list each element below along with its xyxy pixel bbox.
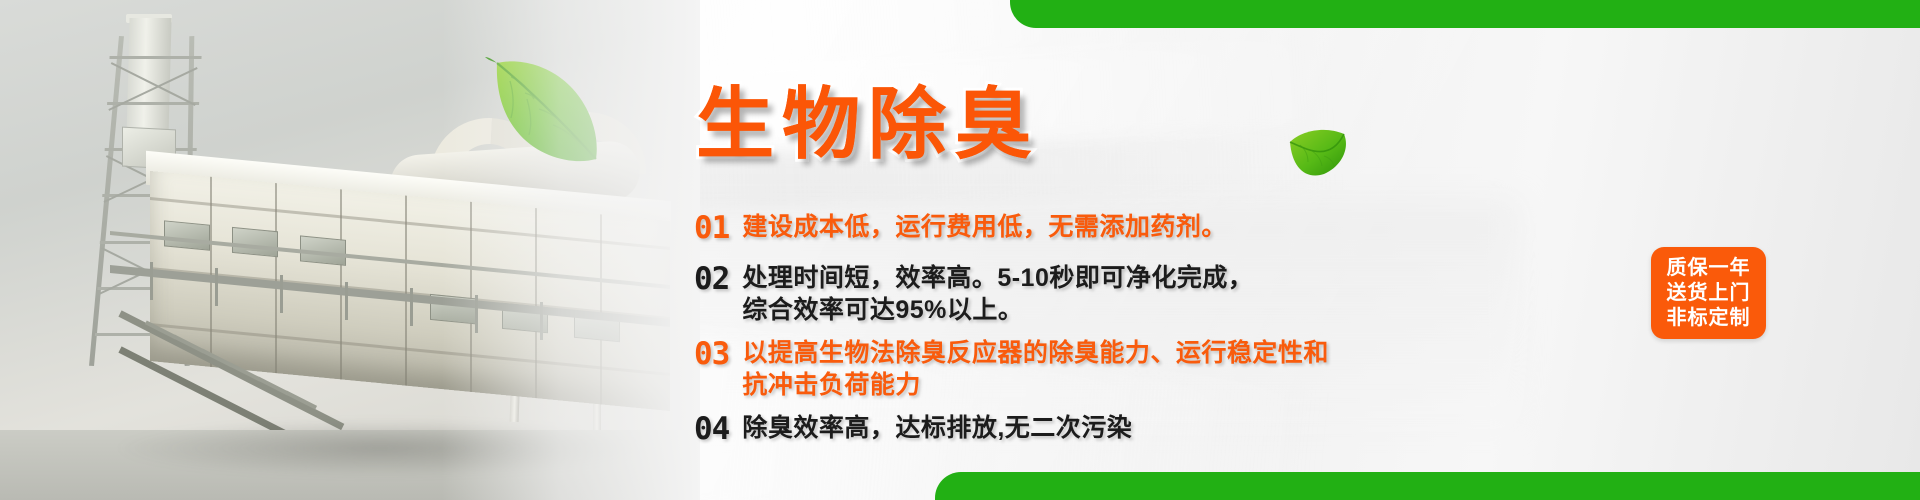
list-item: 03 以提高生物法除臭反应器的除臭能力、运行稳定性和 抗冲击负荷能力 <box>694 338 1654 401</box>
banner-content: 生物除臭 生物除臭 01 建设成本低，运行费用低，无需添加药剂。 02 处理时间… <box>690 0 1670 500</box>
feature-text: 建设成本低，运行费用低，无需添加药剂。 <box>742 212 1227 244</box>
rail-post <box>410 288 413 326</box>
photo-fade-overlay <box>442 0 700 500</box>
feature-text: 处理时间短，效率高。5-10秒即可净化完成， 综合效率可达95%以上。 <box>742 263 1253 326</box>
tank-access-panel <box>232 227 278 257</box>
badge-line-custom: 非标定制 <box>1667 308 1751 329</box>
feature-number: 04 <box>694 413 729 446</box>
tank-access-panel <box>164 220 210 250</box>
feature-text: 以提高生物法除臭反应器的除臭能力、运行稳定性和 抗冲击负荷能力 <box>742 338 1329 401</box>
feature-text: 除臭效率高，达标排放,无二次污染 <box>742 413 1132 445</box>
equipment-photo <box>0 0 700 500</box>
badge-line-warranty: 质保一年 <box>1667 258 1751 279</box>
rail-post <box>150 262 153 300</box>
feature-number: 01 <box>694 212 729 245</box>
feature-number: 03 <box>694 338 729 371</box>
promo-banner: 生物除臭 生物除臭 01 建设成本低，运行费用低，无需添加药剂。 02 处理时间… <box>0 0 1920 500</box>
list-item: 04 除臭效率高，达标排放,无二次污染 <box>694 413 1654 446</box>
badge-line-delivery: 送货上门 <box>1667 283 1751 304</box>
page-title-fill: 生物除臭 <box>696 62 1040 174</box>
feature-list: 01 建设成本低，运行费用低，无需添加药剂。 02 处理时间短，效率高。5-10… <box>694 212 1654 460</box>
feature-number: 02 <box>694 263 729 296</box>
guarantee-badge: 质保一年 送货上门 非标定制 <box>1651 247 1766 339</box>
tower-rung <box>109 56 201 59</box>
list-item: 01 建设成本低，运行费用低，无需添加药剂。 <box>694 212 1654 245</box>
list-item: 02 处理时间短，效率高。5-10秒即可净化完成， 综合效率可达95%以上。 <box>694 263 1654 326</box>
tower-brace <box>111 62 196 106</box>
